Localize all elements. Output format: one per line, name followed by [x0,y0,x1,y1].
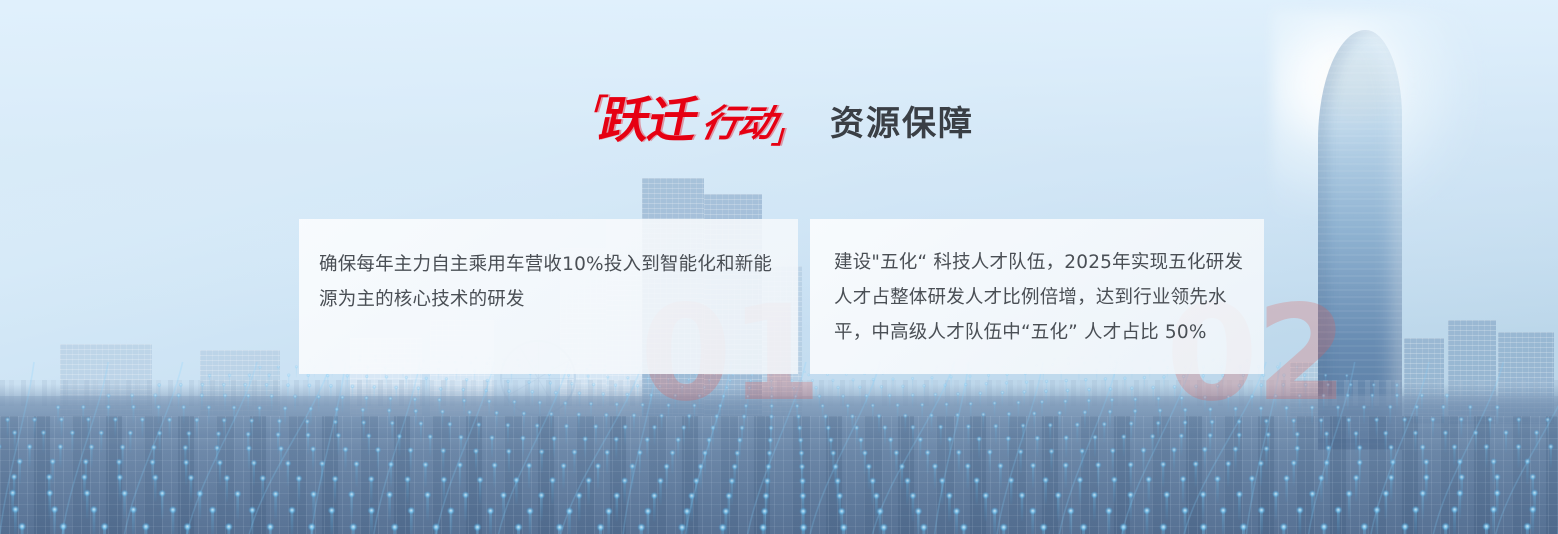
content-card-02: 建设"五化“ 科技人才队伍，2025年实现五化研发人才占整体研发人才比例倍增，达… [810,219,1264,374]
banner-stage: 01 02 「 跃迁 行动 」 资源保障 确保每年主力自主乘用车营收10%投入到… [0,0,1558,534]
logo-secondary-text: 行动 [698,105,778,142]
city-lights [0,416,1558,534]
campaign-logo: 「 跃迁 行动 」 [570,96,807,145]
card-text-02: 建设"五化“ 科技人才队伍，2025年实现五化研发人才占整体研发人才比例倍增，达… [834,245,1250,350]
sun-glow-icon [1272,10,1482,220]
logo-primary-text: 跃迁 [596,96,702,145]
logo-quote-close-icon: 」 [770,121,802,147]
title-row: 「 跃迁 行动 」 资源保障 [575,96,974,145]
page-title: 资源保障 [830,107,974,141]
card-text-01: 确保每年主力自主乘用车营收10%投入到智能化和新能源为主的核心技术的研发 [319,247,784,317]
sun-flare-icon [1316,44,1402,130]
content-card-01: 确保每年主力自主乘用车营收10%投入到智能化和新能源为主的核心技术的研发 [299,219,798,374]
